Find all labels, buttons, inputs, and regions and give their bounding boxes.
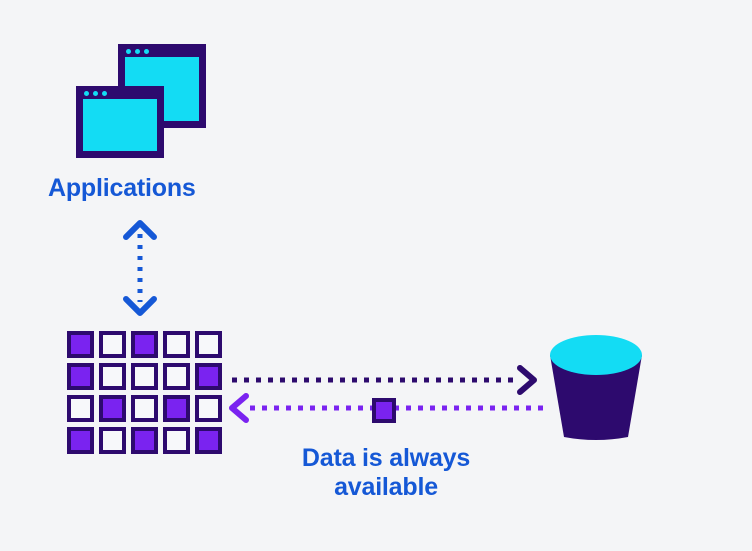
grid-cell [163,427,190,454]
grid-cell [195,331,222,358]
read-arrow-head [232,396,246,420]
application-windows-icon [76,44,206,158]
grid-cell [163,363,190,390]
applications-label: Applications [48,174,196,203]
grid-cell [99,331,126,358]
storage-bucket-icon [544,331,648,443]
window-dot-icon [126,49,131,54]
window-front [76,86,164,158]
availability-caption-line1: Data is always [258,444,514,473]
grid-cell [131,331,158,358]
grid-cell [99,363,126,390]
window-dot-icon [135,49,140,54]
availability-caption-line2: available [258,473,514,502]
availability-caption: Data is always available [258,444,514,502]
window-front-screen [83,99,157,151]
bucket-top [550,335,642,375]
window-back-dots [126,49,149,54]
grid-cell [67,395,94,422]
window-dot-icon [93,91,98,96]
grid-cell [195,363,222,390]
data-block-square [372,398,396,423]
grid-cell [131,427,158,454]
grid-cell [195,427,222,454]
data-blocks-grid [67,331,222,454]
grid-cell [67,331,94,358]
bidirectional-dotted-arrow-icon [112,218,168,318]
grid-cell [99,395,126,422]
window-dot-icon [144,49,149,54]
write-arrow-head [520,368,534,392]
grid-cell [131,395,158,422]
window-front-dots [84,91,107,96]
grid-cell [99,427,126,454]
grid-cell [131,363,158,390]
grid-cell [163,331,190,358]
window-dot-icon [84,91,89,96]
grid-cell [67,363,94,390]
grid-cell [67,427,94,454]
diagram-canvas: Applications [0,0,752,551]
grid-cell [163,395,190,422]
window-dot-icon [102,91,107,96]
grid-cell [195,395,222,422]
